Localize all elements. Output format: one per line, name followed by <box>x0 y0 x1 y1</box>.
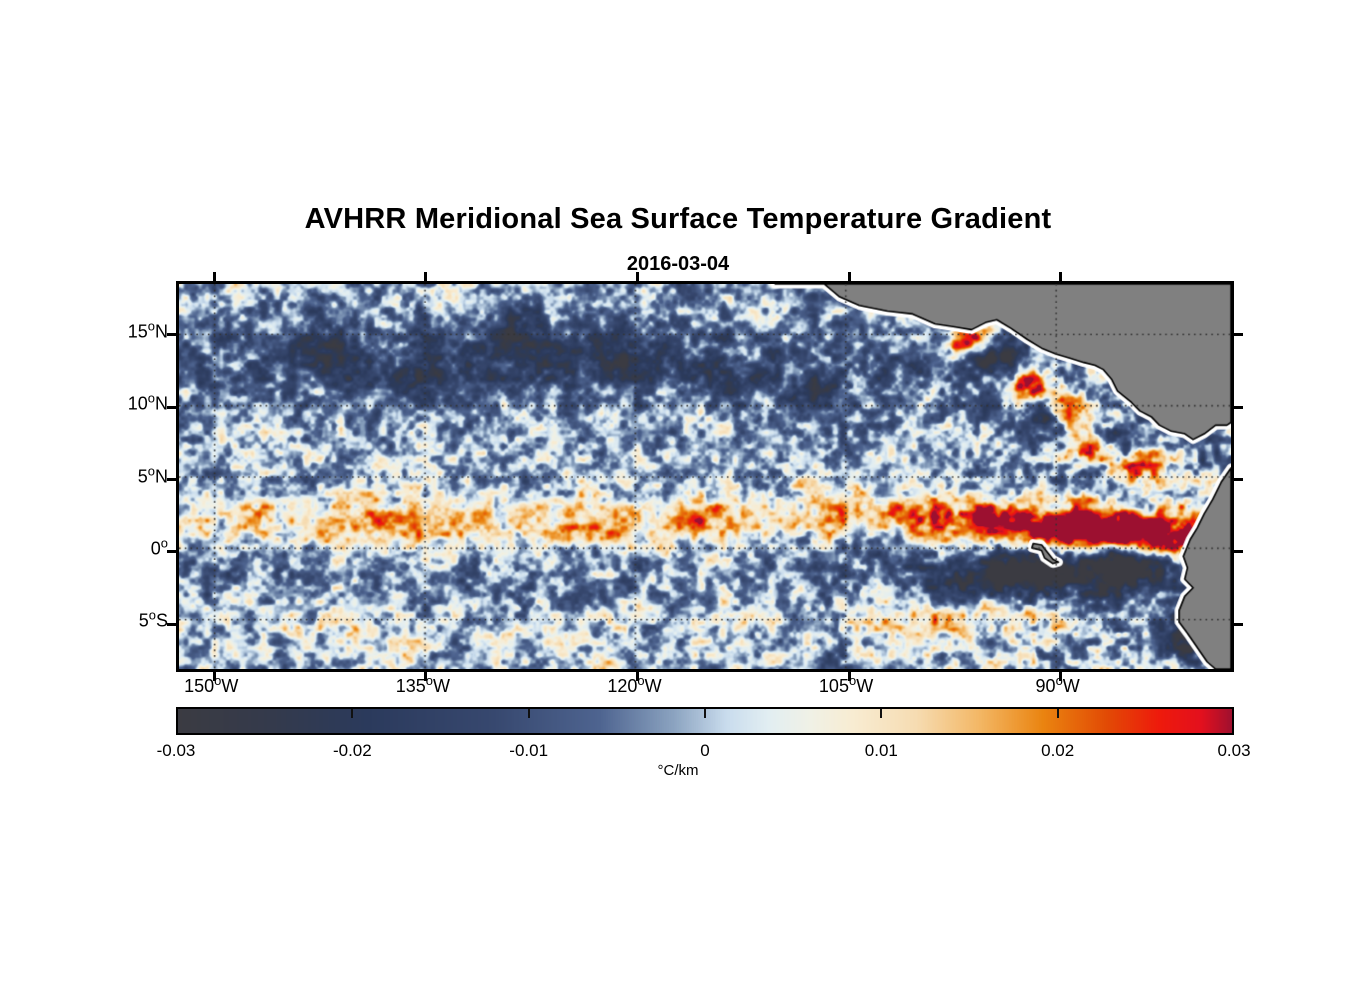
y-axis-tick <box>1231 623 1243 626</box>
x-axis-tick <box>213 669 216 681</box>
x-axis-tick <box>636 272 639 284</box>
x-axis-tick <box>1059 669 1062 681</box>
colorbar-tick-label-neg001: -0.01 <box>459 741 599 761</box>
colorbar-tick-label-neg002: -0.02 <box>282 741 422 761</box>
y-axis-tick <box>167 550 179 553</box>
colorbar-tick <box>704 709 706 718</box>
x-tick-label-90W: 90oW <box>978 676 1138 697</box>
figure-subtitle: 2016-03-04 <box>0 253 1356 276</box>
x-axis-tick <box>424 669 427 681</box>
y-axis-tick <box>1231 550 1243 553</box>
x-axis-tick <box>636 669 639 681</box>
y-axis-tick <box>1231 406 1243 409</box>
y-tick-label-5N: 5oN <box>58 466 168 487</box>
y-tick-label-15N: 15oN <box>58 321 168 342</box>
y-axis-tick <box>167 406 179 409</box>
x-tick-label-105W: 105oW <box>766 676 926 697</box>
x-axis-tick <box>1059 272 1062 284</box>
colorbar-tick <box>528 709 530 718</box>
colorbar-tick <box>880 709 882 718</box>
colorbar-tick-label-pos002: 0.02 <box>988 741 1128 761</box>
y-tick-label-10N: 10oN <box>58 394 168 415</box>
coastline-and-grid-overlay <box>179 284 1231 669</box>
colorbar-tick <box>351 709 353 718</box>
colorbar-tick-label-min: -0.03 <box>106 741 246 761</box>
x-tick-label-120W: 120oW <box>554 676 714 697</box>
colorbar <box>176 707 1234 735</box>
y-axis-tick <box>167 333 179 336</box>
map-axes <box>176 281 1234 672</box>
y-axis-tick <box>1231 478 1243 481</box>
y-tick-label-5S: 5oS <box>58 611 168 632</box>
x-axis-tick <box>848 669 851 681</box>
x-axis-tick <box>424 272 427 284</box>
y-tick-label-0: 0o <box>58 538 168 559</box>
colorbar-tick-label-zero: 0 <box>635 741 775 761</box>
y-axis-tick <box>167 623 179 626</box>
figure-root: AVHRR Meridional Sea Surface Temperature… <box>0 0 1356 1000</box>
colorbar-tick-label-pos001: 0.01 <box>811 741 951 761</box>
colorbar-tick-label-max: 0.03 <box>1164 741 1304 761</box>
y-axis-tick <box>167 478 179 481</box>
figure-title: AVHRR Meridional Sea Surface Temperature… <box>0 203 1356 236</box>
colorbar-tick <box>1057 709 1059 718</box>
y-axis-tick <box>1231 333 1243 336</box>
colorbar-unit-label: °C/km <box>0 762 1356 779</box>
x-tick-label-135W: 135oW <box>343 676 503 697</box>
x-axis-tick <box>213 272 216 284</box>
x-tick-label-150W: 150oW <box>131 676 291 697</box>
x-axis-tick <box>848 272 851 284</box>
